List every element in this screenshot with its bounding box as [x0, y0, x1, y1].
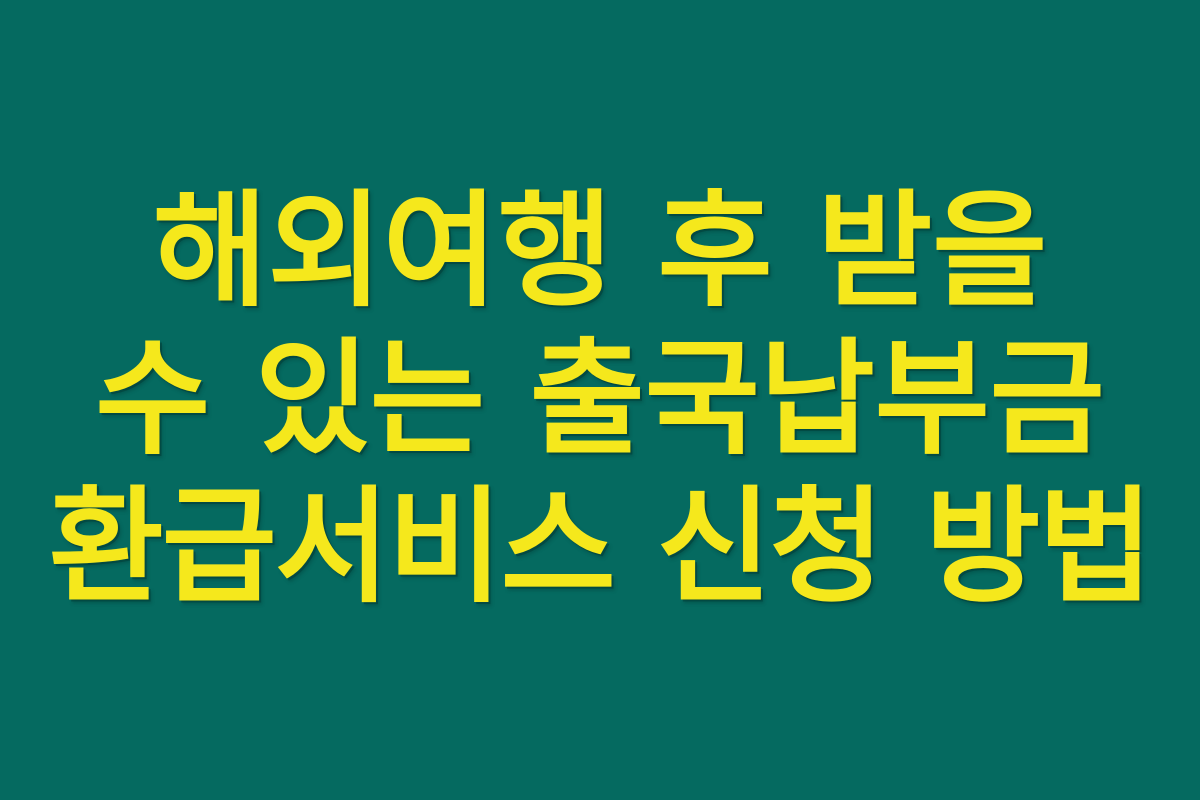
headline-line-1: 해외여행 후 받을	[18, 178, 1182, 326]
headline-block: 해외여행 후 받을 수 있는 출국납부금 환급서비스 신청 방법	[0, 178, 1200, 622]
headline-line-2: 수 있는 출국납부금	[18, 326, 1182, 474]
thumbnail-banner: 해외여행 후 받을 수 있는 출국납부금 환급서비스 신청 방법	[0, 0, 1200, 800]
headline-line-3: 환급서비스 신청 방법	[18, 474, 1182, 622]
